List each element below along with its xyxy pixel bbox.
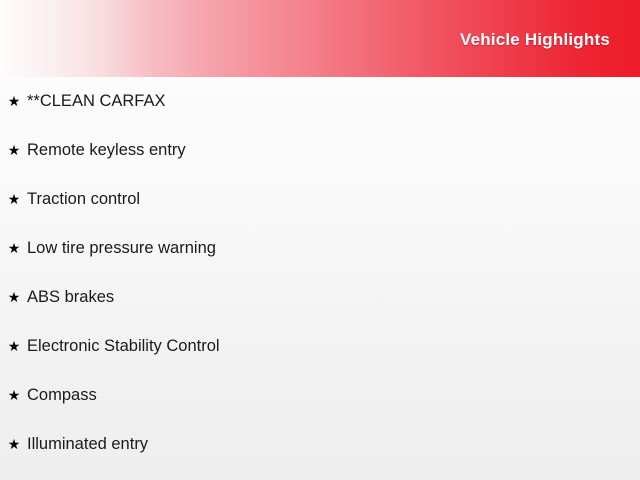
star-icon: ★	[7, 77, 21, 126]
list-item-label: **CLEAN CARFAX	[27, 77, 165, 126]
star-icon: ★	[7, 224, 21, 273]
list-item: ★ Compass	[0, 371, 640, 420]
list-item-label: Low tire pressure warning	[27, 224, 216, 273]
page-title: Vehicle Highlights	[460, 30, 610, 50]
vehicle-highlights-page: Vehicle Highlights ★ **CLEAN CARFAX ★ Re…	[0, 0, 640, 480]
star-icon: ★	[7, 371, 21, 420]
star-icon: ★	[7, 420, 21, 469]
list-item-label: Compass	[27, 371, 97, 420]
list-item: ★ ABS brakes	[0, 273, 640, 322]
list-item: ★ Illuminated entry	[0, 420, 640, 469]
list-item: ★ Low tire pressure warning	[0, 224, 640, 273]
list-item-label: Electronic Stability Control	[27, 322, 220, 371]
list-item-label: Illuminated entry	[27, 420, 148, 469]
star-icon: ★	[7, 175, 21, 224]
list-item: ★ **CLEAN CARFAX	[0, 77, 640, 126]
list-item: ★ Electronic Stability Control	[0, 322, 640, 371]
list-item-label: ABS brakes	[27, 273, 114, 322]
list-item-label: Remote keyless entry	[27, 126, 186, 175]
star-icon: ★	[7, 322, 21, 371]
header-banner: Vehicle Highlights	[0, 0, 640, 77]
list-item: ★ Remote keyless entry	[0, 126, 640, 175]
list-item: ★ Traction control	[0, 175, 640, 224]
list-item-label: Traction control	[27, 175, 140, 224]
star-icon: ★	[7, 273, 21, 322]
star-icon: ★	[7, 126, 21, 175]
vehicle-highlights-list: ★ **CLEAN CARFAX ★ Remote keyless entry …	[0, 77, 640, 469]
